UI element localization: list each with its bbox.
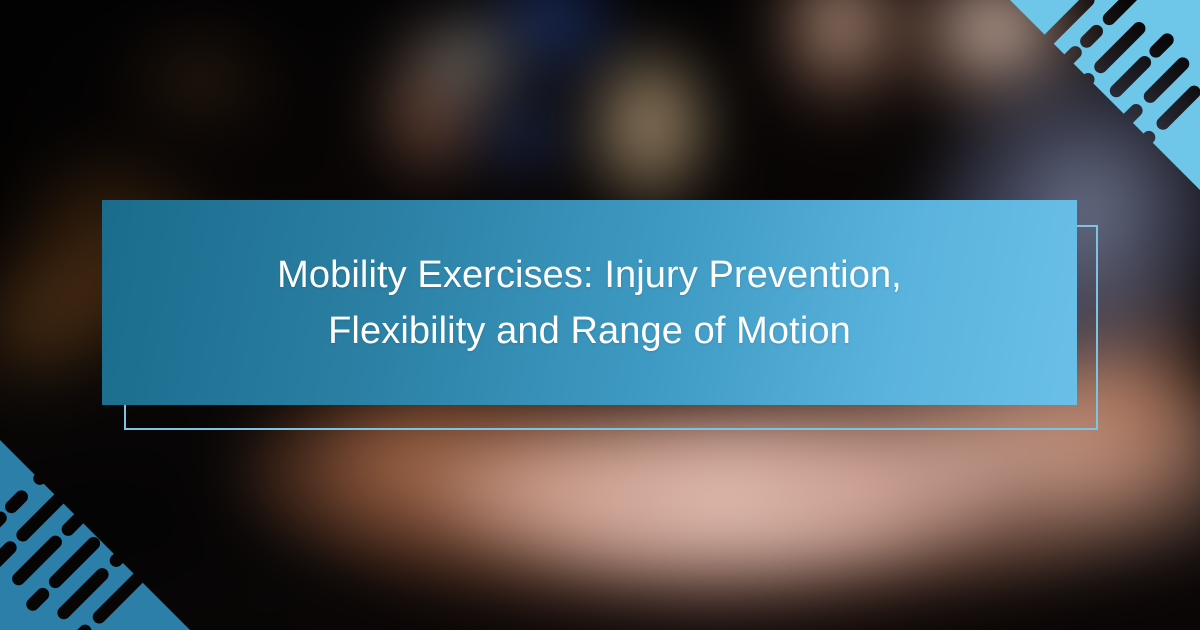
page-title: Mobility Exercises: Injury Prevention, F…: [277, 247, 902, 359]
poster-canvas: Mobility Exercises: Injury Prevention, F…: [0, 0, 1200, 630]
page-title-line-1: Mobility Exercises: Injury Prevention,: [277, 254, 902, 296]
page-title-line-2: Flexibility and Range of Motion: [328, 310, 851, 352]
title-banner: Mobility Exercises: Injury Prevention, F…: [102, 200, 1077, 405]
